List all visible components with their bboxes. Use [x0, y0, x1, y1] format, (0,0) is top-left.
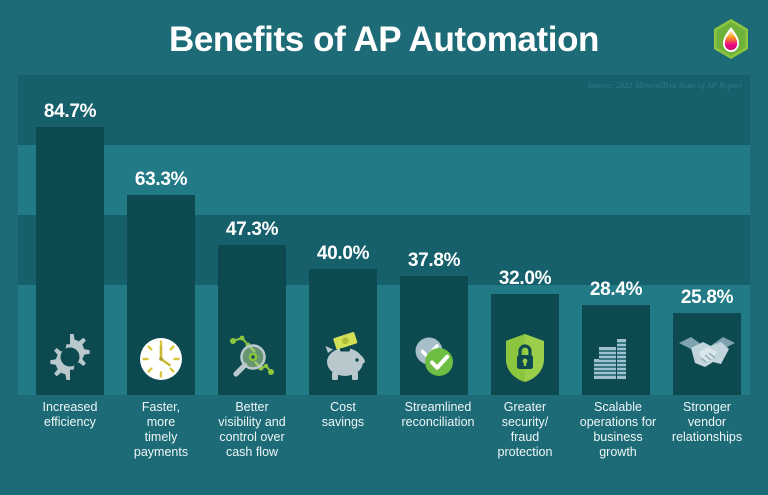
mineraltree-hexagon-flame-logo-icon: [712, 18, 750, 60]
label-line: timely: [115, 430, 207, 445]
label-line: control over: [206, 430, 298, 445]
category-label: Stronger vendor relationships: [657, 400, 757, 445]
double-checkmark-icon: [400, 331, 468, 389]
shield-lock-icon: [491, 331, 559, 389]
label-line: Faster,: [115, 400, 207, 415]
label-line: growth: [564, 445, 672, 460]
label-line: Scalable: [564, 400, 672, 415]
category-label: Streamlined reconciliation: [384, 400, 492, 430]
category-label: Increased efficiency: [24, 400, 116, 430]
label-line: security/: [479, 415, 571, 430]
label-line: vendor: [657, 415, 757, 430]
label-line: efficiency: [24, 415, 116, 430]
label-line: more: [115, 415, 207, 430]
magnifier-network-icon: [218, 331, 286, 389]
page-title: Benefits of AP Automation: [0, 20, 768, 60]
label-line: fraud: [479, 430, 571, 445]
bar-value-label: 84.7%: [28, 101, 112, 123]
bar-chart: 84.7% 63.3%: [18, 75, 750, 395]
buildings-icon: [582, 331, 650, 389]
label-line: Better: [206, 400, 298, 415]
label-line: relationships: [657, 430, 757, 445]
label-line: business: [564, 430, 672, 445]
label-line: operations for: [564, 415, 672, 430]
label-line: Greater: [479, 400, 571, 415]
category-label: Cost savings: [297, 400, 389, 430]
category-label: Greater security/ fraud protection: [479, 400, 571, 460]
label-line: Stronger: [657, 400, 757, 415]
bar-value-label: 40.0%: [301, 243, 385, 265]
label-line: savings: [297, 415, 389, 430]
category-label: Better visibility and control over cash …: [206, 400, 298, 460]
handshake-icon: [673, 331, 741, 389]
label-line: Streamlined: [384, 400, 492, 415]
category-label: Scalable operations for business growth: [564, 400, 672, 460]
label-line: reconciliation: [384, 415, 492, 430]
category-label: Faster, more timely payments: [115, 400, 207, 460]
bar-value-label: 28.4%: [574, 279, 658, 301]
bar-value-label: 25.8%: [665, 287, 749, 309]
label-line: cash flow: [206, 445, 298, 460]
category-labels: Increased efficiency Faster, more timely…: [18, 400, 750, 495]
label-line: Increased: [24, 400, 116, 415]
label-line: protection: [479, 445, 571, 460]
piggy-bank-icon: [309, 331, 377, 389]
bar-value-label: 37.8%: [392, 250, 476, 272]
infographic-root: Benefits of AP Automation: [0, 0, 768, 495]
label-line: visibility and: [206, 415, 298, 430]
header: Benefits of AP Automation: [0, 0, 768, 75]
label-line: payments: [115, 445, 207, 460]
gear-icon: [36, 331, 104, 389]
label-line: Cost: [297, 400, 389, 415]
bar-value-label: 47.3%: [210, 219, 294, 241]
clock-icon: [127, 331, 195, 389]
bar-value-label: 63.3%: [119, 169, 203, 191]
bar-value-label: 32.0%: [483, 268, 567, 290]
